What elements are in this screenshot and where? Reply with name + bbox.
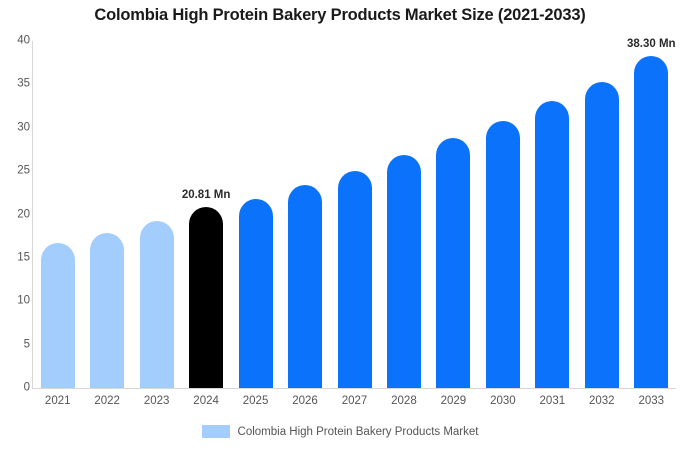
bar-2021[interactable] [41,243,75,388]
x-axis-tick-2031: 2031 [528,395,577,407]
bar-2030[interactable] [486,121,520,388]
x-axis-tick-2032: 2032 [577,395,626,407]
bar-2033[interactable] [634,56,668,388]
x-axis-tick-2028: 2028 [379,395,428,407]
x-axis-tick-2022: 2022 [82,395,131,407]
y-axis-tick-10: 10 [4,296,30,308]
bar-2031[interactable] [535,101,569,388]
x-axis-tick-2024: 2024 [181,395,230,407]
legend-label-colombia-high-protein-bakery-products-market: Colombia High Protein Bakery Products Ma… [238,426,479,438]
bar-2022[interactable] [90,233,124,388]
x-axis-tick-2021: 2021 [33,395,82,407]
y-axis-tick-0: 0 [4,382,30,394]
y-axis-tick-labels: 0510152025303540 [0,0,30,450]
bar-2032[interactable] [585,82,619,388]
x-axis-tick-2023: 2023 [132,395,181,407]
y-axis-tick-35: 35 [4,79,30,91]
chart-legend: Colombia High Protein Bakery Products Ma… [0,425,680,438]
y-axis-tick-20: 20 [4,209,30,221]
data-label-2024: 20.81 Mn [161,189,251,201]
y-axis-tick-40: 40 [4,35,30,47]
bar-2027[interactable] [338,171,372,388]
bar-2029[interactable] [436,138,470,388]
bars-layer [33,41,676,388]
x-axis-tick-2025: 2025 [231,395,280,407]
bar-2026[interactable] [288,185,322,388]
bar-2028[interactable] [387,155,421,388]
bar-2023[interactable] [140,221,174,388]
legend-swatch-colombia-high-protein-bakery-products-market [202,425,230,438]
x-axis-line [32,388,676,389]
x-axis-tick-2029: 2029 [429,395,478,407]
x-axis-tick-2026: 2026 [280,395,329,407]
y-axis-tick-25: 25 [4,165,30,177]
chart-title: Colombia High Protein Bakery Products Ma… [0,6,680,25]
bar-2025[interactable] [239,199,273,388]
x-axis-tick-2033: 2033 [627,395,676,407]
bar-2024[interactable] [189,207,223,388]
chart-container: Colombia High Protein Bakery Products Ma… [0,0,680,450]
y-axis-tick-30: 30 [4,122,30,134]
y-axis-tick-15: 15 [4,252,30,264]
x-axis-tick-2030: 2030 [478,395,527,407]
x-axis-tick-2027: 2027 [330,395,379,407]
y-axis-tick-5: 5 [4,339,30,351]
data-label-2033: 38.30 Mn [606,38,680,50]
